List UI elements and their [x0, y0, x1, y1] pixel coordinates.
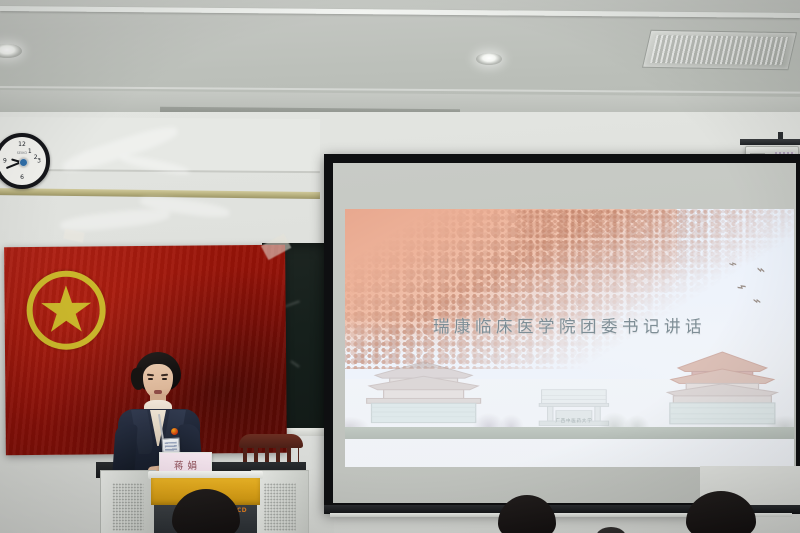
projection-screen-surface: ⌁ ⌁ ⌁ ⌁ 瑞康临床医学院团委书记讲话: [333, 163, 796, 503]
presentation-slide: ⌁ ⌁ ⌁ ⌁ 瑞康临床医学院团委书记讲话: [345, 209, 794, 467]
ceiling-seam-upper: [0, 6, 800, 18]
clock-numeral-12: 12: [18, 141, 26, 148]
clock-numeral-3: 3: [37, 158, 41, 165]
chalk-mark: [290, 360, 299, 367]
speaker-nameplate-text: 蒋娟: [170, 458, 201, 472]
clock-numeral-1: 1: [28, 148, 32, 155]
flag-emblem-ring: [26, 270, 106, 350]
clock-brand-label: SEIKO: [17, 151, 27, 155]
person-eye: [162, 378, 167, 380]
projection-screen-frame: ⌁ ⌁ ⌁ ⌁ 瑞康临床医学院团委书记讲话: [324, 154, 800, 513]
flying-bird-icon: ⌁: [755, 262, 767, 278]
illustration-pagoda-right: [664, 348, 781, 428]
slide-campus-illustration: 广西中医药大学: [345, 346, 794, 439]
slide-title-text: 瑞康临床医学院团委书记讲话: [345, 313, 794, 337]
ceiling-downlight-2: [476, 53, 502, 65]
person-eye: [148, 378, 153, 380]
chalk-mark: [284, 300, 300, 307]
clock-center-pin: [19, 158, 28, 167]
ceiling-downlight-1: [0, 44, 22, 58]
clock-numeral-6: 6: [20, 174, 24, 181]
illustration-gate-caption: 广西中医药大学: [538, 418, 610, 424]
person-arm-left: [112, 423, 138, 476]
lecture-hall-photo: 12 1 2 3 6 9 SEIKO: [0, 0, 800, 533]
projector-mount-bar: [740, 139, 800, 145]
illustration-ground: [345, 427, 794, 438]
speaker-grille: [112, 483, 143, 531]
flying-bird-icon: ⌁: [728, 257, 738, 272]
slide-birds-group: ⌁ ⌁ ⌁ ⌁: [668, 255, 776, 317]
flying-bird-icon: ⌁: [734, 279, 749, 298]
speaker-grille: [264, 483, 296, 531]
lapel-pin-icon: [171, 428, 178, 435]
illustration-pagoda-left: [363, 355, 484, 427]
ceiling: [0, 0, 800, 118]
ceiling-vent-panel: [642, 30, 797, 71]
flying-bird-icon: ⌁: [752, 294, 762, 309]
clock-numeral-9: 9: [3, 158, 7, 165]
flag-star-icon: [41, 285, 91, 335]
